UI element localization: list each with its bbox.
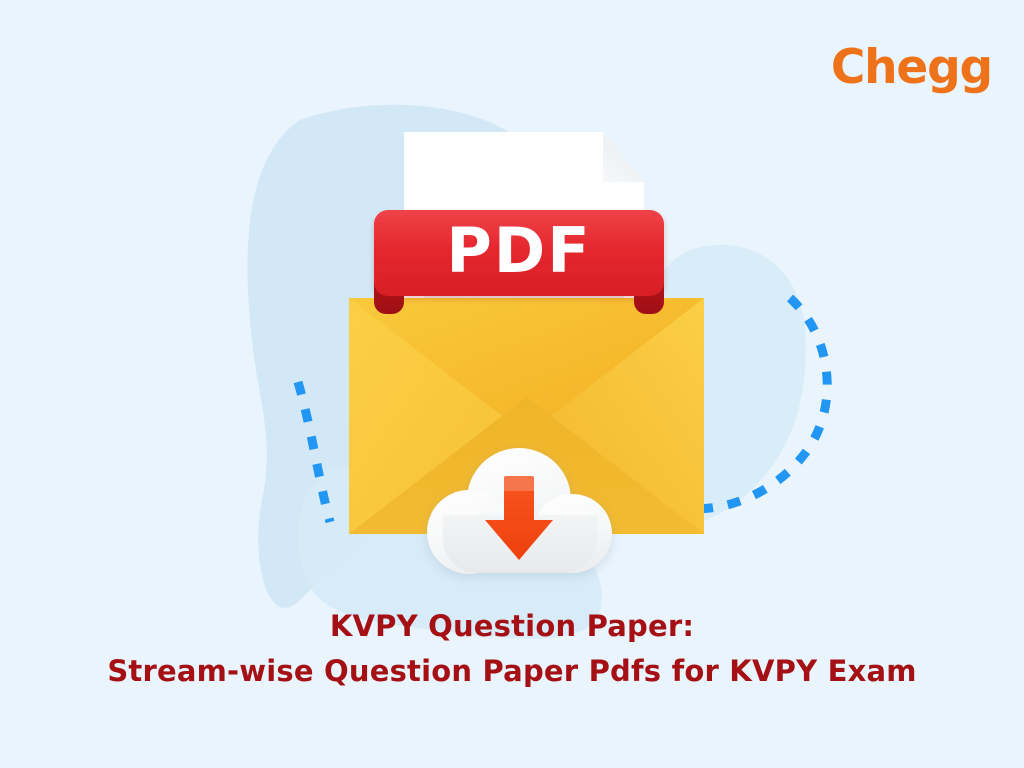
- banner-canvas: Chegg PDF: [0, 0, 1024, 768]
- pdf-badge-plate: PDF: [374, 210, 664, 296]
- download-arrow-icon: [485, 476, 553, 560]
- dashed-arc-right: [690, 298, 827, 509]
- dashed-arc-left: [298, 382, 330, 522]
- page-title: KVPY Question Paper: Stream-wise Questio…: [0, 608, 1024, 690]
- arrow-shaft: [504, 491, 534, 523]
- arrow-head: [485, 520, 553, 560]
- page-title-line-2: Stream-wise Question Paper Pdfs for KVPY…: [0, 653, 1024, 690]
- cloud-download-icon: [427, 448, 612, 573]
- pdf-badge-label: PDF: [446, 220, 591, 286]
- pdf-download-illustration: PDF: [330, 110, 710, 580]
- pdf-badge: PDF: [374, 210, 664, 310]
- chegg-logo: Chegg: [831, 44, 992, 91]
- page-title-line-1: KVPY Question Paper:: [0, 608, 1024, 645]
